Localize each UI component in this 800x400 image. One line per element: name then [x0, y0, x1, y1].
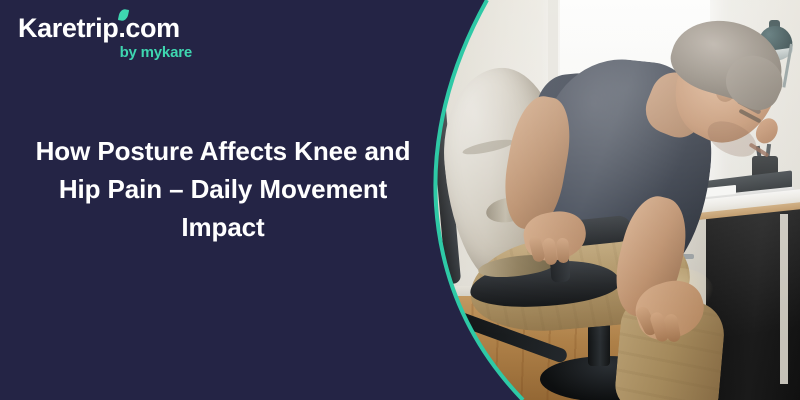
blog-banner: Karetrip.com by mykare How Posture Affec…	[0, 0, 800, 400]
page-title: How Posture Affects Knee and Hip Pain – …	[14, 132, 432, 246]
desk-leg	[780, 214, 788, 384]
chair-caster	[440, 352, 466, 374]
finger	[556, 238, 569, 264]
logo-tagline: by mykare	[18, 44, 192, 61]
site-logo[interactable]: Karetrip.com by mykare	[18, 14, 198, 61]
logo-brand-text: Karetrip.com	[18, 14, 180, 42]
